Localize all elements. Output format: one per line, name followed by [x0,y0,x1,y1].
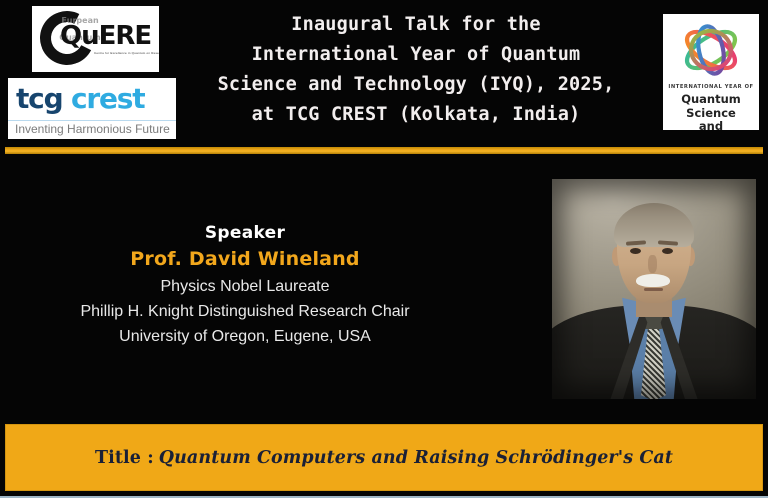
speaker-affiliation-line-1: Physics Nobel Laureate [10,275,480,298]
event-title: Inaugural Talk for the International Yea… [178,10,654,130]
iyq-logo-caption: INTERNATIONAL YEAR OF [663,84,759,90]
iyq-logo-name: Quantum Science and Technology [663,93,759,130]
event-title-line-3: Science and Technology (IYQ), 2025, [178,70,654,100]
iyq-knot-icon [668,17,754,83]
speaker-affiliation-line-3: University of Oregon, Eugene, USA [10,325,480,348]
tcg-crest-logo: tcg crest Inventing Harmonious Future [8,78,176,139]
tcg-logo-tagline: Inventing Harmonious Future [15,122,170,136]
talk-title: Title :Quantum Computers and Raising Sch… [95,448,673,468]
event-title-line-1: Inaugural Talk for the [178,10,654,40]
speaker-block: Speaker Prof. David Wineland Physics Nob… [10,222,480,348]
iyq-name-line-2: and Technology [663,120,759,130]
iyq-logo: INTERNATIONAL YEAR OF Quantum Science an… [663,14,759,130]
speaker-name: Prof. David Wineland [10,246,480,273]
event-title-line-4: at TCG CREST (Kolkata, India) [178,100,654,130]
quere-logo: Eurpean Quantum QuERE Centre for Excelle… [32,6,159,72]
gold-divider [5,147,763,154]
talk-title-label: Title : [95,448,154,468]
talk-title-subject: Quantum Computers and Raising Schrödinge… [159,448,673,468]
tcg-word-primary: tcg [16,82,62,115]
presentation-poster: Eurpean Quantum QuERE Centre for Excelle… [0,0,768,498]
tcg-word-secondary: crest [71,82,144,115]
quere-logo-tagline: Centre for Excellence in Quantum on Rese… [94,51,159,55]
talk-title-bar: Title :Quantum Computers and Raising Sch… [5,424,763,491]
speaker-photo [552,179,756,399]
speaker-affiliation-line-2: Phillip H. Knight Distinguished Research… [10,300,480,323]
poster-header: Eurpean Quantum QuERE Centre for Excelle… [0,0,768,148]
iyq-name-line-1: Quantum Science [663,93,759,120]
tcg-divider-rule [8,120,176,121]
event-title-line-2: International Year of Quantum [178,40,654,70]
quere-wordmark: QuERE [60,21,151,51]
photo-vignette [552,179,756,399]
speaker-label: Speaker [10,222,480,244]
tcg-crest-wordmark: tcg crest [16,82,144,116]
quere-logo-graphic: Eurpean Quantum QuERE Centre for Excelle… [38,9,153,69]
